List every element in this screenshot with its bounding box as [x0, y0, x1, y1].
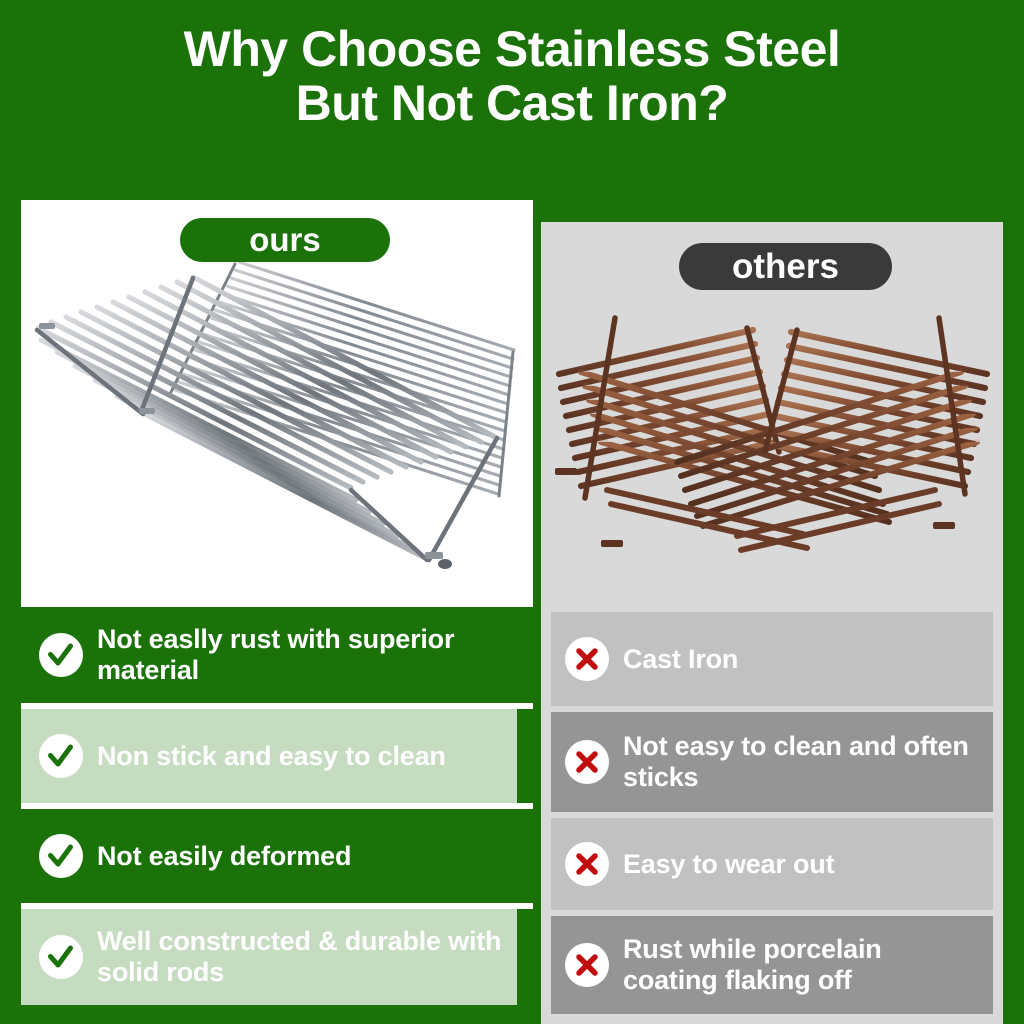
list-item-label: Well constructed & durable with solid ro…	[97, 926, 503, 988]
list-item[interactable]: Well constructed & durable with solid ro…	[21, 909, 517, 1005]
badge-others: others	[679, 243, 892, 290]
list-item-label: Non stick and easy to clean	[97, 741, 446, 772]
list-item-label: Not easlly rust with superior material	[97, 624, 519, 686]
list-item[interactable]: Easy to wear out	[551, 818, 993, 910]
list-item[interactable]: Not easily deformed	[21, 809, 533, 903]
check-icon	[39, 935, 83, 979]
list-item[interactable]: Not easy to clean and often sticks	[551, 712, 993, 812]
list-item-label: Cast Iron	[623, 644, 738, 675]
list-item[interactable]: Non stick and easy to clean	[21, 709, 517, 803]
cross-icon	[565, 637, 609, 681]
cross-icon	[565, 740, 609, 784]
list-item-label: Rust while porcelain coating flaking off	[623, 934, 983, 996]
ours-feature-list: Not easlly rust with superior material N…	[21, 607, 533, 1005]
list-item[interactable]: Cast Iron	[551, 612, 993, 706]
badge-ours-label: ours	[249, 221, 321, 259]
page-title: Why Choose Stainless Steel But Not Cast …	[0, 22, 1024, 130]
list-item-label: Not easily deformed	[97, 841, 351, 872]
others-feature-list: Cast Iron Not easy to clean and often st…	[541, 607, 1003, 1024]
cross-icon	[565, 842, 609, 886]
list-item[interactable]: Rust while porcelain coating flaking off	[551, 916, 993, 1014]
title-line-2: But Not Cast Iron?	[0, 76, 1024, 130]
badge-others-label: others	[732, 247, 839, 287]
badge-ours: ours	[180, 218, 390, 262]
list-item-label: Not easy to clean and often sticks	[623, 731, 983, 793]
check-icon	[39, 834, 83, 878]
cross-icon	[565, 943, 609, 987]
title-line-1: Why Choose Stainless Steel	[0, 22, 1024, 76]
check-icon	[39, 633, 83, 677]
check-icon	[39, 734, 83, 778]
list-item-label: Easy to wear out	[623, 849, 834, 880]
infographic-page: Why Choose Stainless Steel But Not Cast …	[0, 0, 1024, 1024]
list-item[interactable]: Not easlly rust with superior material	[21, 607, 533, 703]
